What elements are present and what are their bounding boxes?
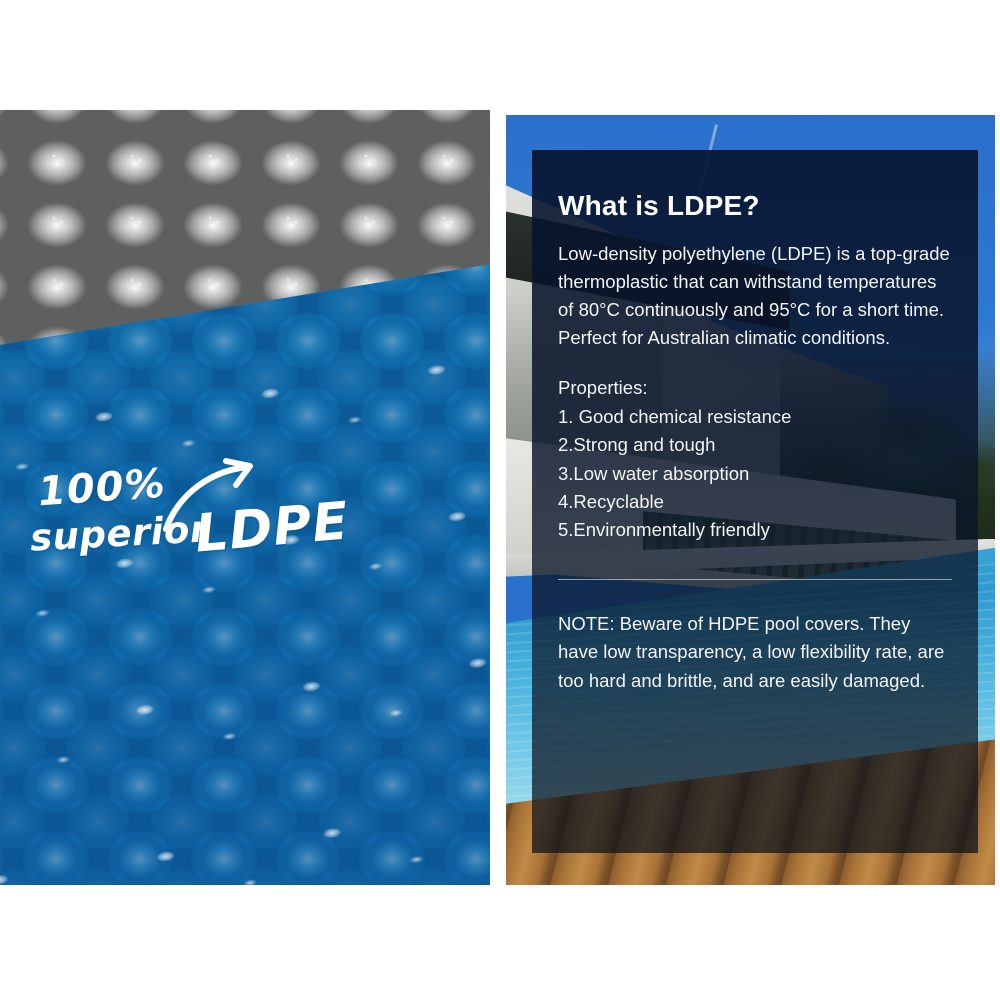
properties-label: Properties: [558,374,952,402]
list-item: 3.Low water absorption [558,460,952,488]
card-note: NOTE: Beware of HDPE pool covers. They h… [558,610,952,696]
ldpe-info-panel: What is LDPE? Low-density polyethylene (… [506,115,995,885]
info-card: What is LDPE? Low-density polyethylene (… [532,150,978,853]
card-divider [558,579,952,580]
card-title: What is LDPE? [558,190,952,222]
list-item: 1. Good chemical resistance [558,403,952,431]
list-item: 2.Strong and tough [558,431,952,459]
handwritten-callout: 100% superior LDPE [30,465,360,580]
callout-percent: 100% [37,461,167,516]
card-description: Low-density polyethylene (LDPE) is a top… [558,240,952,352]
properties-list: 1. Good chemical resistance 2.Strong and… [558,403,952,544]
curved-arrow-icon [160,457,270,535]
product-feature-image: 100% superior LDPE What is LDPE? Low-den… [0,0,1000,1000]
list-item: 5.Environmentally friendly [558,516,952,544]
list-item: 4.Recyclable [558,488,952,516]
pool-cover-swatch-panel: 100% superior LDPE [0,110,490,885]
